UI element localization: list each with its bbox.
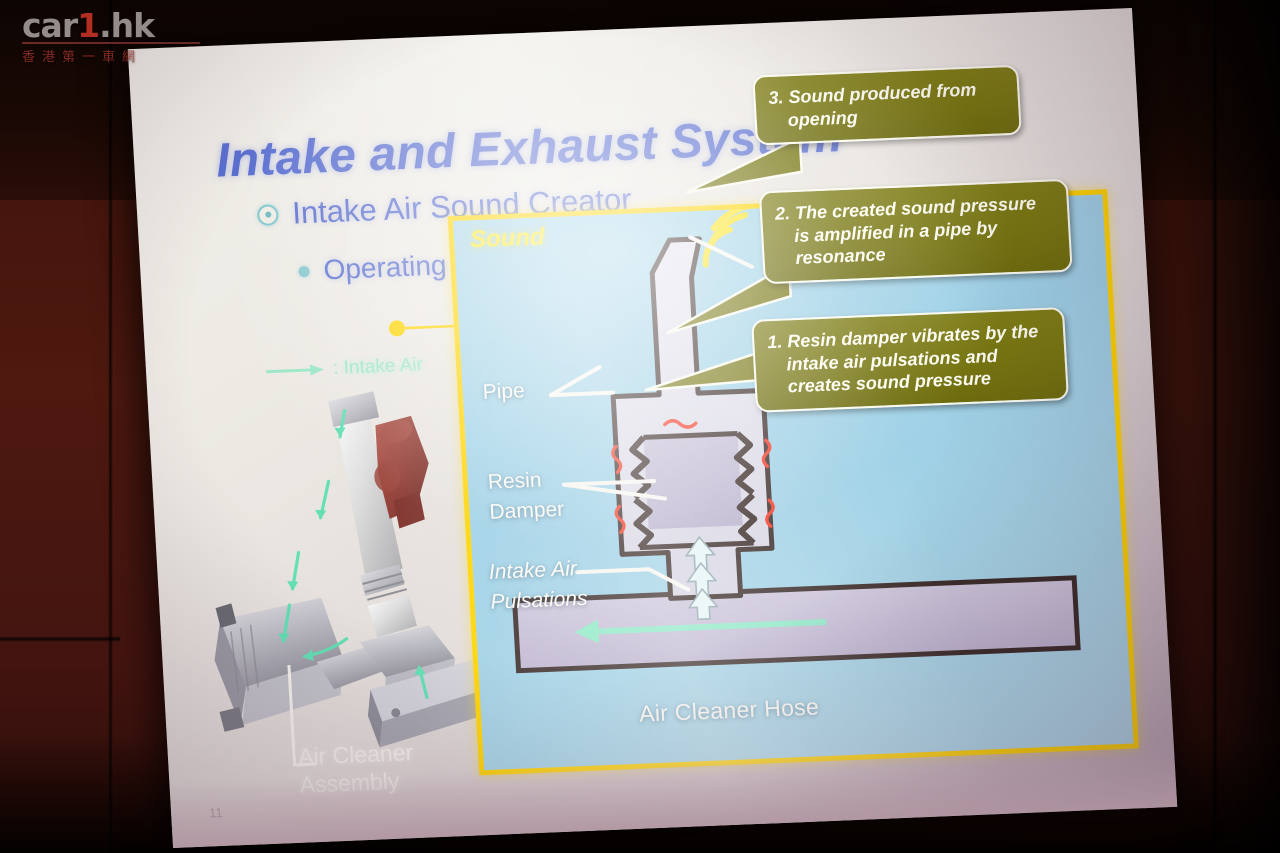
presentation-slide: Intake and Exhaust System Intake Air Sou… — [128, 8, 1178, 848]
watermark-rule — [22, 42, 200, 44]
photo-of-projected-slide: Intake and Exhaust System Intake Air Sou… — [0, 0, 1280, 853]
callout-2-bubble: 2. The created sound pressure is amplifi… — [759, 179, 1073, 285]
callout-3-number: 3. — [768, 87, 784, 108]
resin-damper-label-line1: Resin — [487, 468, 542, 495]
projection-screen-wrapper: Intake and Exhaust System Intake Air Sou… — [0, 0, 1280, 853]
pipe-label: Pipe — [482, 378, 525, 405]
dot-bullet-icon — [298, 265, 310, 276]
site-watermark: car1.hk 香港第一車網 — [22, 6, 212, 62]
ring-bullet-icon — [257, 204, 279, 226]
callout-2-number: 2. — [774, 203, 790, 224]
watermark-subtitle: 香港第一車網 — [22, 46, 212, 65]
projection-screen: Intake and Exhaust System Intake Air Sou… — [128, 8, 1178, 848]
callout-3-bubble: 3. Sound produced from opening — [752, 65, 1022, 146]
intake-air-pulsations-label-line2: Pulsations — [490, 586, 588, 615]
watermark-brand-main: car — [22, 6, 77, 45]
intake-air-pulsations-label-line1: Intake Air — [488, 556, 577, 585]
watermark-brand: car1.hk — [22, 6, 212, 45]
callout-1-number: 1. — [767, 332, 783, 353]
watermark-brand-tld: .hk — [99, 6, 154, 45]
sound-label: Sound — [469, 223, 545, 254]
watermark-brand-number: 1 — [77, 6, 99, 45]
callout-1-bubble: 1. Resin damper vibrates by the intake a… — [751, 307, 1069, 413]
resin-damper-label-line2: Damper — [489, 497, 565, 525]
